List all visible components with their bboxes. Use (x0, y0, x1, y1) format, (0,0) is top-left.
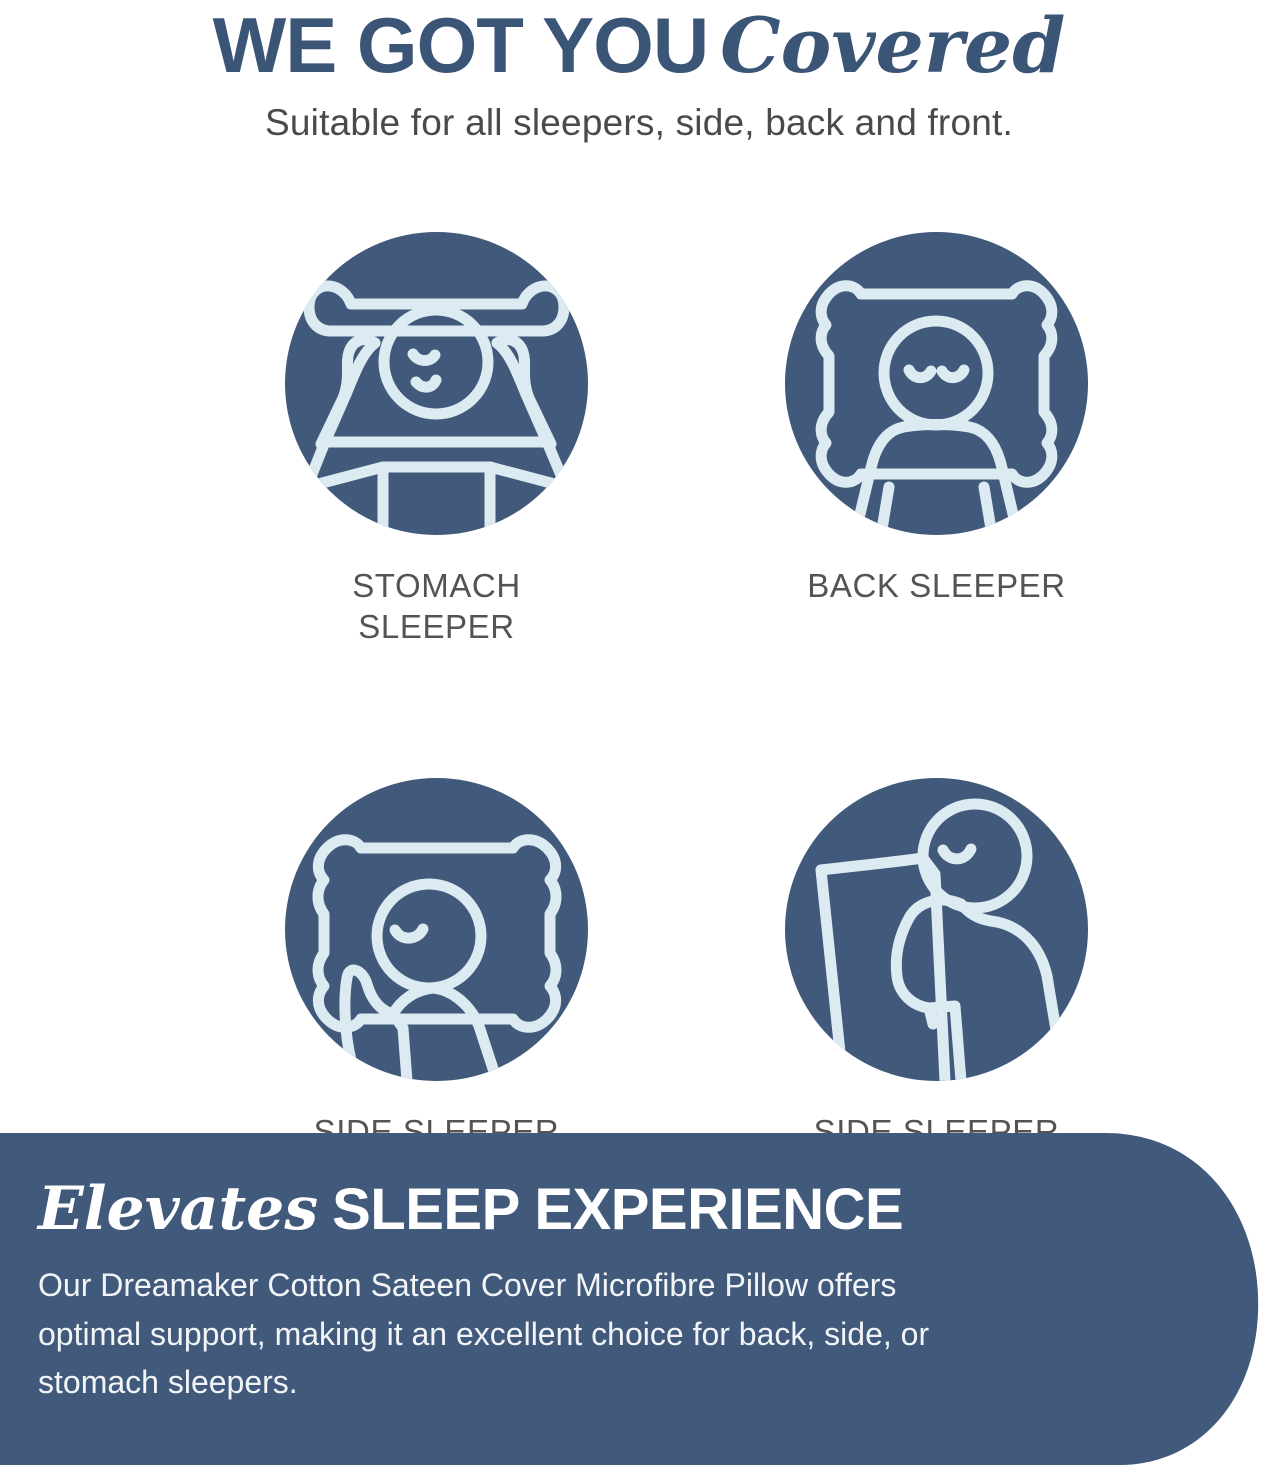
side-sleeper-icon (285, 778, 588, 1081)
sleeper-card-side: SIDE SLEEPER (285, 778, 588, 1194)
sleeper-grid: STOMACH SLEEPER (0, 232, 1278, 1193)
sleeper-card-back: BACK SLEEPER (785, 232, 1088, 648)
sleeper-row-1: STOMACH SLEEPER (0, 232, 1278, 648)
page-title-script: Covered (720, 1, 1065, 90)
panel-body-text: Our Dreamaker Cotton Sateen Cover Microf… (38, 1239, 968, 1407)
page-title-strong: WE GOT YOU (213, 1, 709, 89)
sleeper-card-stomach: STOMACH SLEEPER (285, 232, 588, 648)
bottom-panel: ElevatesSLEEP EXPERIENCE Our Dreamaker C… (0, 1133, 1278, 1465)
sleeper-label-stomach: STOMACH SLEEPER (285, 565, 588, 648)
panel-content: ElevatesSLEEP EXPERIENCE Our Dreamaker C… (38, 1179, 968, 1407)
panel-title-script: Elevates (38, 1174, 318, 1244)
back-sleeper-icon (785, 232, 1088, 535)
header: WE GOT YOUCovered Suitable for all sleep… (0, 0, 1278, 144)
side-sleeper-hugger-icon (785, 778, 1088, 1081)
sleeper-label-back: BACK SLEEPER (807, 565, 1065, 606)
panel-title-strong: SLEEP EXPERIENCE (332, 1177, 903, 1242)
sleeper-card-hugger: SIDE SLEEPER (HUGGER) (785, 778, 1088, 1194)
page-subtitle: Suitable for all sleepers, side, back an… (0, 84, 1278, 144)
panel-title: ElevatesSLEEP EXPERIENCE (38, 1179, 968, 1239)
stomach-sleeper-icon (285, 232, 588, 535)
page-title: WE GOT YOUCovered (0, 0, 1278, 84)
sleeper-row-2: SIDE SLEEPER (0, 778, 1278, 1194)
